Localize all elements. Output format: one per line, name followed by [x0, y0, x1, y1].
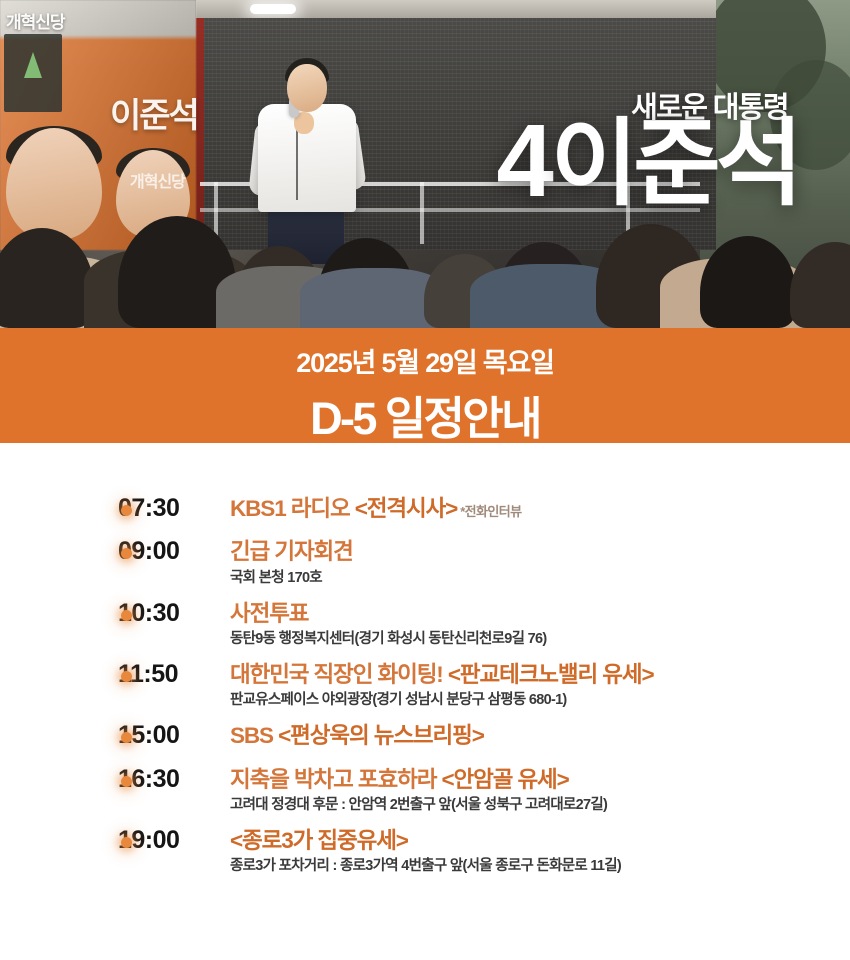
- date-banner: 2025년 5월 29일 목요일 D-5 일정안내: [0, 328, 850, 443]
- schedule-title-emphasis: <판교테크노밸리 유세>: [448, 662, 654, 687]
- schedule-row: 07:30KBS1 라디오 <전격시사>*전화인터뷰: [0, 495, 850, 522]
- schedule-time: 16:30: [118, 766, 230, 793]
- schedule-time: 10:30: [118, 600, 230, 627]
- banner-candidate-name: 이준석: [110, 88, 198, 137]
- banner-title: D-5 일정안내: [0, 382, 850, 447]
- schedule-location: 동탄9동 행정복지센터(경기 화성시 동탄신리천로9길 76): [230, 630, 850, 649]
- schedule-title: KBS1 라디오 <전격시사>*전화인터뷰: [230, 495, 850, 522]
- schedule-note: *전화인터뷰: [460, 504, 521, 519]
- party-logo: 개혁신당: [6, 8, 114, 34]
- schedule-row: 11:50대한민국 직장인 화이팅! <판교테크노밸리 유세>판교유스페이스 야…: [0, 661, 850, 710]
- schedule-title-plain: 긴급 기자회견: [230, 539, 353, 564]
- schedule-title-plain: KBS1 라디오: [230, 496, 355, 521]
- speaker-head: [287, 64, 327, 112]
- schedule-row: 19:00<종로3가 집중유세>종로3가 포차거리 : 종로3가역 4번출구 앞…: [0, 827, 850, 876]
- schedule-title: 사전투표: [230, 600, 850, 627]
- schedule-texts: <종로3가 집중유세>종로3가 포차거리 : 종로3가역 4번출구 앞(서울 종…: [230, 827, 850, 876]
- ceiling-lamp: [250, 4, 296, 14]
- hero-candidate-name: 이준석: [551, 111, 798, 217]
- schedule-row: 15:00SBS <편상욱의 뉴스브리핑>: [0, 722, 850, 749]
- schedule-list: 07:30KBS1 라디오 <전격시사>*전화인터뷰09:00긴급 기자회견국회…: [0, 443, 850, 960]
- schedule-title: SBS <편상욱의 뉴스브리핑>: [230, 722, 850, 749]
- schedule-texts: 사전투표동탄9동 행정복지센터(경기 화성시 동탄신리천로9길 76): [230, 600, 850, 649]
- schedule-row: 09:00긴급 기자회견국회 본청 170호: [0, 538, 850, 587]
- schedule-title-plain: 사전투표: [230, 601, 308, 626]
- hero-candidate-title: 4이준석: [497, 112, 799, 211]
- schedule-title-plain: SBS: [230, 723, 278, 748]
- bullet-icon: [121, 776, 132, 787]
- bullet-icon: [121, 610, 132, 621]
- schedule-time: 11:50: [118, 661, 230, 688]
- schedule-texts: 지축을 박차고 포효하라 <안암골 유세>고려대 정경대 후문 : 안암역 2번…: [230, 766, 850, 815]
- hero-photo: 개혁신당 이준석 개혁신당 새로운 대통령 4이준석: [0, 0, 850, 328]
- crowd-head: [700, 236, 796, 328]
- street-sign: [4, 34, 62, 112]
- schedule-row: 16:30지축을 박차고 포효하라 <안암골 유세>고려대 정경대 후문 : 안…: [0, 766, 850, 815]
- banner-date: 2025년 5월 29일 목요일: [0, 328, 850, 380]
- schedule-title-emphasis: <전격시사>: [355, 496, 457, 521]
- crowd-head: [0, 228, 94, 328]
- crowd-silhouettes: [0, 208, 850, 328]
- bullet-icon: [121, 505, 132, 516]
- schedule-time: 07:30: [118, 495, 230, 522]
- schedule-title: 대한민국 직장인 화이팅! <판교테크노밸리 유세>: [230, 661, 850, 688]
- schedule-title-emphasis: <안암골 유세>: [441, 767, 568, 792]
- schedule-location: 종로3가 포차거리 : 종로3가역 4번출구 앞(서울 종로구 돈화문로 11길…: [230, 857, 850, 876]
- schedule-time: 09:00: [118, 538, 230, 565]
- schedule-title: 긴급 기자회견: [230, 538, 850, 565]
- schedule-title: 지축을 박차고 포효하라 <안암골 유세>: [230, 766, 850, 793]
- schedule-location: 국회 본청 170호: [230, 569, 850, 588]
- bullet-icon: [121, 837, 132, 848]
- hero-candidate-number: 4: [497, 103, 549, 218]
- schedule-time: 19:00: [118, 827, 230, 854]
- schedule-row: 10:30사전투표동탄9동 행정복지센터(경기 화성시 동탄신리천로9길 76): [0, 600, 850, 649]
- schedule-title-emphasis: <종로3가 집중유세>: [230, 828, 408, 853]
- schedule-texts: 긴급 기자회견국회 본청 170호: [230, 538, 850, 587]
- schedule-title: <종로3가 집중유세>: [230, 827, 850, 854]
- schedule-texts: 대한민국 직장인 화이팅! <판교테크노밸리 유세>판교유스페이스 야외광장(경…: [230, 661, 850, 710]
- banner-party-name: 개혁신당: [130, 168, 185, 192]
- crowd-head: [790, 242, 850, 328]
- schedule-location: 판교유스페이스 야외광장(경기 성남시 분당구 삼평동 680-1): [230, 691, 850, 710]
- schedule-texts: SBS <편상욱의 뉴스브리핑>: [230, 722, 850, 749]
- schedule-time: 15:00: [118, 722, 230, 749]
- schedule-title-emphasis: <편상욱의 뉴스브리핑>: [278, 723, 484, 748]
- schedule-location: 고려대 정경대 후문 : 안암역 2번출구 앞(서울 성북구 고려대로27길): [230, 796, 850, 815]
- bullet-icon: [121, 671, 132, 682]
- schedule-title-plain: 대한민국 직장인 화이팅!: [230, 662, 448, 687]
- schedule-texts: KBS1 라디오 <전격시사>*전화인터뷰: [230, 495, 850, 522]
- schedule-title-plain: 지축을 박차고 포효하라: [230, 767, 441, 792]
